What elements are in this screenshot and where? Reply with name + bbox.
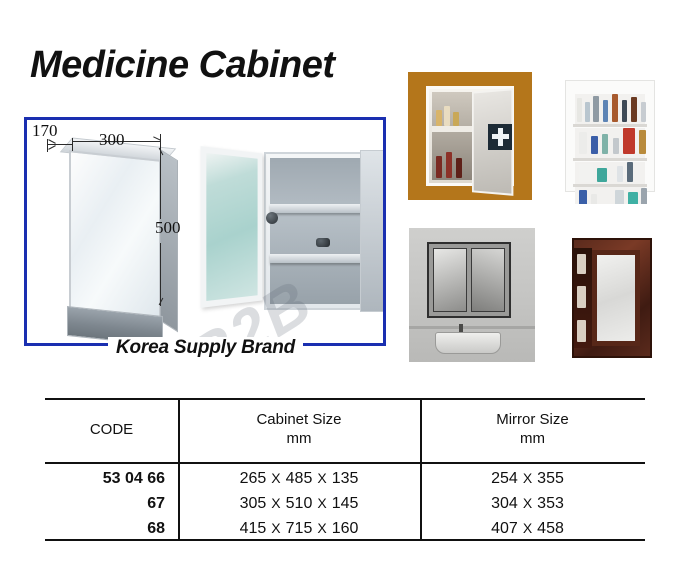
photo-bottle — [641, 188, 647, 204]
table-cell-cabinet-size: 415X715X160 — [178, 520, 420, 538]
photo-box — [579, 164, 593, 182]
cabinet-interior — [270, 158, 368, 304]
photo-shelf — [432, 126, 472, 132]
photo-bottle — [639, 130, 646, 154]
mirror-height: 355 — [537, 470, 564, 487]
dimension-line-height-lower — [160, 243, 161, 306]
cabinet-depth: 145 — [332, 495, 359, 512]
photo-wall-cabinet-with-bottles — [553, 68, 667, 204]
cabinet-right-edge — [360, 150, 383, 312]
table-cell-mirror-size: 304X353 — [420, 495, 635, 513]
dimension-line-height-upper — [160, 147, 161, 219]
photo-bottle — [615, 190, 624, 204]
photo-bottle — [591, 194, 597, 204]
photo-shelf — [573, 158, 647, 161]
catalog-page: Medicine Cabinet B2B — [0, 0, 683, 570]
cabinet-height: 715 — [286, 520, 313, 537]
table-row: 68 415X715X160 407X458 — [45, 520, 645, 545]
photo-bottle — [612, 94, 618, 122]
photo-mirror-door — [433, 248, 467, 312]
cabinet-width: 305 — [240, 495, 267, 512]
cabinet-width: 265 — [240, 470, 267, 487]
photo-bottle — [579, 190, 587, 204]
table-cell-code: 53 04 66 — [45, 470, 165, 488]
dimension-label-depth: 170 — [32, 121, 58, 141]
photo-bottle — [456, 158, 462, 178]
photo-bottle — [623, 128, 635, 154]
photo-bottle — [628, 192, 638, 204]
table-row: 53 04 66 265X485X135 254X355 — [45, 470, 645, 495]
mirror-width: 407 — [491, 520, 518, 537]
table-cell-mirror-size: 407X458 — [420, 520, 635, 538]
photo-bathroom-mirror-cabinet — [409, 228, 535, 362]
dimension-label-width: 300 — [99, 130, 125, 150]
photo-cabinet-open-cross-emblem — [408, 72, 532, 200]
photo-shelf — [573, 184, 647, 187]
photo-bottle — [617, 166, 623, 182]
mirror-height: 458 — [537, 520, 564, 537]
specification-table: CODE Cabinet Size mm Mirror Size mm 53 0… — [45, 398, 645, 541]
cabinet-width: 415 — [240, 520, 267, 537]
separator: X — [312, 470, 331, 486]
table-header-code: CODE — [45, 420, 178, 439]
separator: X — [266, 470, 285, 486]
open-cabinet-illustration — [192, 142, 383, 317]
table-cell-code: 68 — [45, 520, 165, 538]
mirror-front-cabinet-illustration — [69, 150, 161, 320]
photo-bottle — [577, 254, 586, 274]
separator: X — [266, 520, 285, 536]
cabinet-glass-door — [201, 146, 263, 308]
table-header-cabinet-size-label: Cabinet Size — [178, 410, 420, 429]
table-header-mirror-size-unit: mm — [420, 429, 645, 448]
photo-cabinet-frame — [561, 76, 659, 196]
photo-bottle — [446, 152, 452, 178]
dimension-tick — [72, 138, 73, 151]
table-border-top — [45, 398, 645, 400]
photo-bottle — [627, 162, 633, 182]
photo-bottle — [622, 100, 627, 122]
cabinet-hinge-knob — [266, 212, 278, 224]
table-header-mirror-size: Mirror Size mm — [420, 410, 645, 448]
mirror-width: 304 — [491, 495, 518, 512]
photo-mirror-door — [471, 248, 505, 312]
photo-bottle — [444, 106, 450, 126]
table-cell-cabinet-size: 305X510X145 — [178, 495, 420, 513]
cabinet-latch — [316, 238, 330, 247]
photo-bottle — [593, 96, 599, 122]
photo-shelf — [573, 124, 647, 127]
photo-bottle — [436, 156, 442, 178]
photo-wood-framed-mirror-cabinet — [558, 228, 662, 364]
cabinet-side-panel — [160, 149, 178, 332]
table-header-cabinet-size: Cabinet Size mm — [178, 410, 420, 448]
photo-bottle — [631, 97, 637, 122]
table-cell-mirror-size: 254X355 — [420, 470, 635, 488]
photo-bottle — [641, 102, 646, 122]
photo-sink — [435, 332, 501, 354]
table-header-cabinet-size-unit: mm — [178, 429, 420, 448]
table-cell-code: 67 — [45, 495, 165, 513]
table-header-mirror-size-label: Mirror Size — [420, 410, 645, 429]
separator: X — [312, 495, 331, 511]
cabinet-height: 485 — [286, 470, 313, 487]
photo-bottle — [453, 112, 459, 126]
photo-bottle — [613, 138, 619, 154]
brand-label: Korea Supply Brand — [108, 337, 303, 359]
photo-bottle — [577, 98, 582, 122]
table-cell-cabinet-size: 265X485X135 — [178, 470, 420, 488]
photo-bottle — [585, 102, 590, 122]
cabinet-height: 510 — [286, 495, 313, 512]
photo-bottle — [603, 100, 608, 122]
medical-cross-icon — [492, 134, 509, 139]
page-title: Medicine Cabinet — [30, 44, 335, 87]
cabinet-shelf — [270, 204, 368, 213]
separator: X — [518, 520, 537, 536]
dimension-line-depth — [47, 144, 72, 145]
separator: X — [518, 495, 537, 511]
photo-bottle — [577, 320, 586, 342]
photo-mirror-door — [592, 250, 640, 346]
table-body: 53 04 66 265X485X135 254X355 67 305X510X… — [45, 462, 645, 537]
dimension-label-height: 500 — [155, 218, 181, 238]
photo-bottle — [597, 168, 607, 182]
photo-bottle — [577, 286, 586, 308]
separator: X — [312, 520, 331, 536]
cabinet-depth: 160 — [332, 520, 359, 537]
photo-bottle — [602, 134, 608, 154]
table-row: 67 305X510X145 304X353 — [45, 495, 645, 520]
cabinet-mirror-door — [69, 150, 161, 320]
product-diagram: B2B — [27, 120, 383, 343]
separator: X — [266, 495, 285, 511]
photo-bottle — [591, 136, 598, 154]
separator: X — [518, 470, 537, 486]
mirror-height: 353 — [537, 495, 564, 512]
photo-bottle — [436, 110, 442, 126]
photo-counter — [409, 326, 535, 329]
cabinet-depth: 135 — [332, 470, 359, 487]
cabinet-shelf — [270, 254, 368, 263]
photo-bottle — [579, 132, 587, 154]
mirror-width: 254 — [491, 470, 518, 487]
